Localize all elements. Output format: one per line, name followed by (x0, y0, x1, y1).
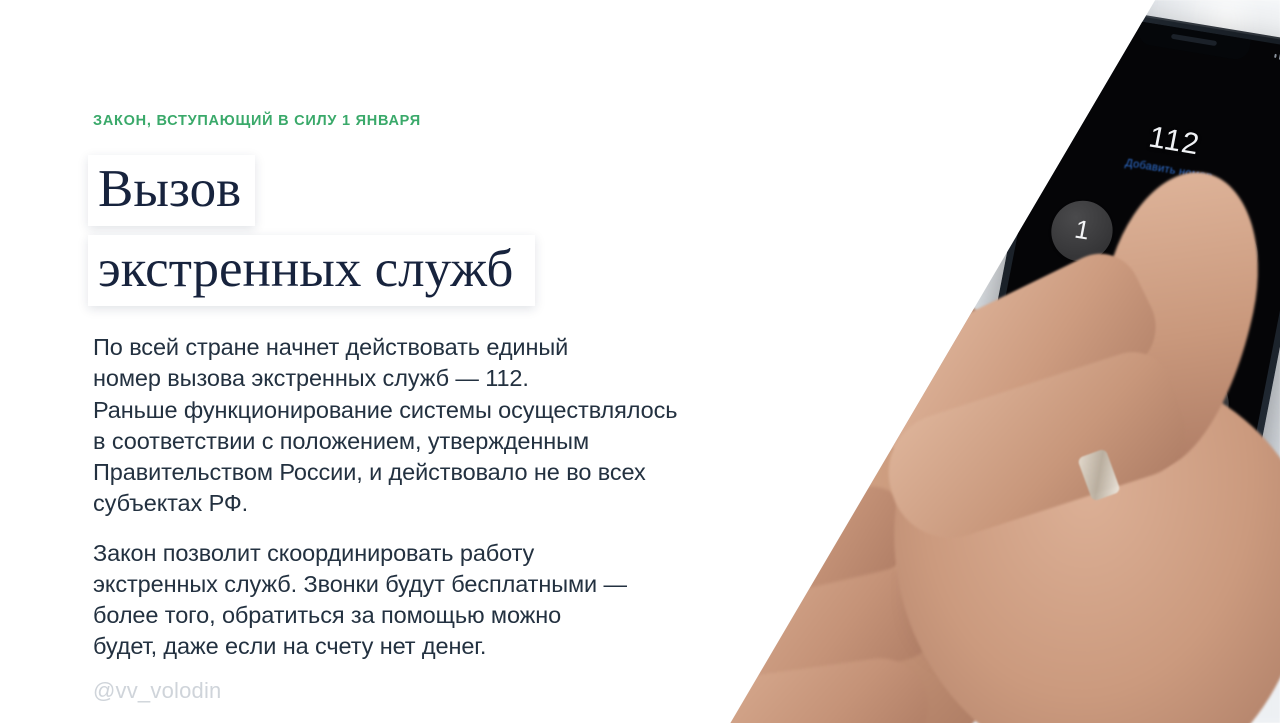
body-copy: По всей стране начнет действовать единый… (93, 332, 803, 663)
status-icons (1274, 51, 1280, 67)
key-digit: 1 (1073, 217, 1092, 244)
headline-line-1: Вызов (88, 155, 255, 226)
signal-bar-icon (1274, 54, 1277, 58)
headline-line-2: экстренных служб (88, 235, 535, 306)
kicker-label: ЗАКОН, ВСТУПАЮЩИЙ В СИЛУ 1 ЯНВАРЯ (93, 113, 421, 129)
text-content: ЗАКОН, ВСТУПАЮЩИЙ В СИЛУ 1 ЯНВАРЯ Вызов … (0, 0, 700, 723)
paragraph-1: По всей стране начнет действовать единый… (93, 332, 803, 520)
watermark-handle: @vv_volodin (93, 678, 222, 704)
slide-root: 112 Добавить номер 1 2 АБВГ ABC 3 ДЕЖЗ D… (0, 0, 1280, 723)
page-title: Вызов экстренных служб (88, 155, 535, 306)
paragraph-2: Закон позволит скоординировать работу эк… (93, 538, 803, 663)
